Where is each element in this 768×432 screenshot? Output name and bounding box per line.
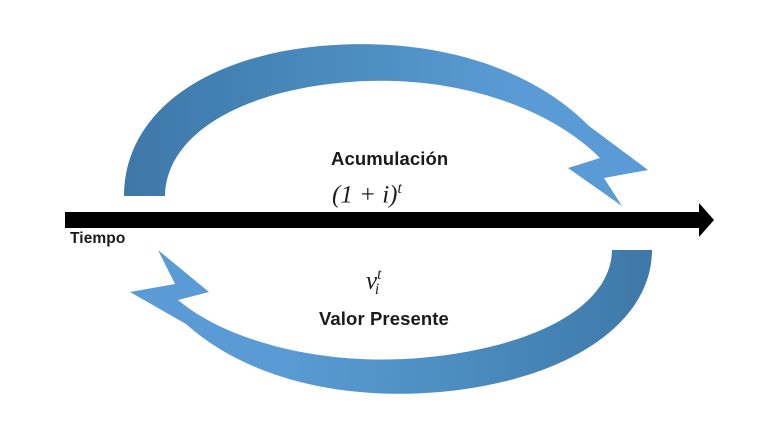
- accumulation-formula-base: (1 + i): [332, 181, 397, 208]
- present-value-formula-subscript: i: [375, 281, 379, 298]
- time-axis-label: Tiempo: [70, 230, 125, 248]
- present-value-formula: vti: [366, 266, 379, 299]
- diagram-graphics: [0, 0, 768, 432]
- accumulation-formula-exponent: t: [397, 180, 401, 197]
- present-value-label: Valor Presente: [319, 308, 449, 330]
- accumulation-formula: (1 + i)t: [332, 180, 402, 209]
- accumulation-label: Acumulación: [331, 148, 448, 170]
- time-axis-arrowhead: [699, 203, 714, 237]
- diagram-canvas: Acumulación (1 + i)t vti Valor Presente …: [0, 0, 768, 432]
- time-axis-shaft: [65, 212, 701, 228]
